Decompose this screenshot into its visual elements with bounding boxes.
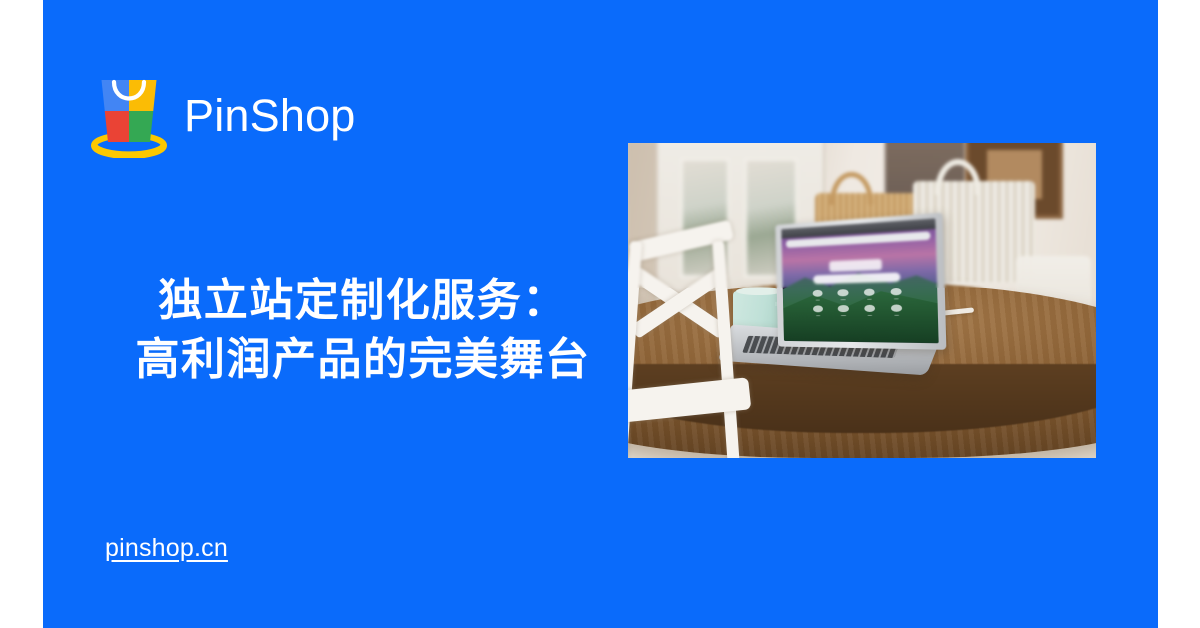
photo-screen-tile <box>838 305 849 312</box>
photo-screen-logo <box>829 259 882 272</box>
photo-screen-tile <box>813 305 823 312</box>
photo-screen-tile <box>812 289 822 296</box>
photo-screen-shortcut-tiles <box>809 287 906 319</box>
photo-chair-leg-right <box>712 241 740 458</box>
hero-photo <box>628 143 1096 458</box>
photo-laptop-screen <box>781 217 939 342</box>
photo-screen-tile <box>890 287 902 295</box>
shopping-bag-icon <box>88 72 170 158</box>
headline-line-1: 独立站定制化服务： <box>103 272 623 331</box>
photo-screen-tile <box>863 288 874 296</box>
brand-name: PinShop <box>184 93 356 138</box>
photo-screen-tile <box>837 288 848 296</box>
photo-white-chair <box>628 231 787 458</box>
blue-banner-panel: PinShop 独立站定制化服务： 高利润产品的完美舞台 pinshop.cn <box>43 0 1158 628</box>
photo-screen-tile <box>890 304 902 312</box>
brand-lockup: PinShop <box>88 72 356 158</box>
laptop-on-wooden-table-photo <box>628 143 1096 458</box>
page-title: 独立站定制化服务： 高利润产品的完美舞台 <box>103 272 623 389</box>
photo-laptop-lid <box>775 212 946 349</box>
site-url-link[interactable]: pinshop.cn <box>105 534 228 563</box>
headline-line-2: 高利润产品的完美舞台 <box>103 331 623 390</box>
photo-screen-tile <box>864 304 875 312</box>
